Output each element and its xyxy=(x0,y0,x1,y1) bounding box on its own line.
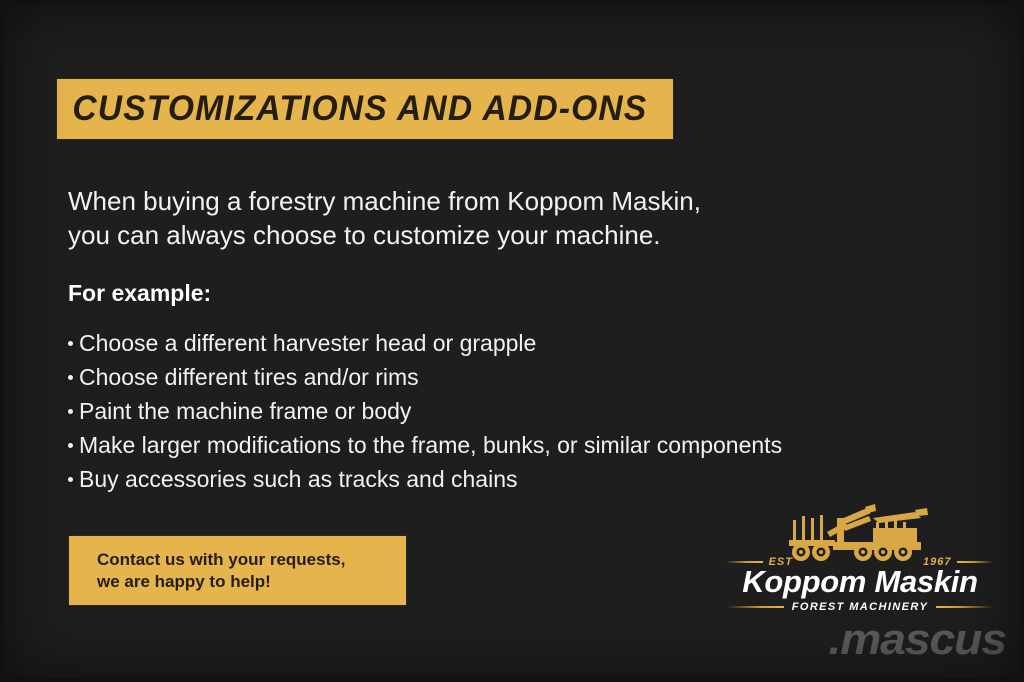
contact-line-1: Contact us with your requests, xyxy=(97,549,406,571)
logo-subtitle-divider-right xyxy=(936,606,994,608)
list-item-label: Buy accessories such as tracks and chain… xyxy=(79,462,517,496)
page-title: CUSTOMIZATIONS AND ADD-ONS xyxy=(57,89,647,129)
feature-bullet-list: Choose a different harvester head or gra… xyxy=(68,326,788,496)
logo-brand-name: Koppom Maskin xyxy=(726,564,994,600)
logo-subtitle-row: FOREST MACHINERY xyxy=(726,600,994,614)
intro-paragraph: When buying a forestry machine from Kopp… xyxy=(68,184,768,252)
bullet-dot-icon xyxy=(68,341,73,346)
bullet-dot-icon xyxy=(68,375,73,380)
list-item: Choose a different harvester head or gra… xyxy=(68,326,788,360)
logo-subtitle: FOREST MACHINERY xyxy=(784,601,936,613)
for-example-heading: For example: xyxy=(68,280,211,307)
list-item-label: Choose different tires and/or rims xyxy=(79,360,419,394)
contact-line-2: we are happy to help! xyxy=(97,571,406,593)
list-item: Choose different tires and/or rims xyxy=(68,360,788,394)
logo-divider-left xyxy=(726,561,763,563)
list-item: Make larger modifications to the frame, … xyxy=(68,428,788,462)
promo-slide: CUSTOMIZATIONS AND ADD-ONS When buying a… xyxy=(0,0,1024,682)
list-item: Paint the machine frame or body xyxy=(68,394,788,428)
mascus-watermark: .mascus xyxy=(744,616,1007,664)
bullet-dot-icon xyxy=(68,443,73,448)
intro-line-1: When buying a forestry machine from Kopp… xyxy=(68,184,768,218)
title-banner: CUSTOMIZATIONS AND ADD-ONS xyxy=(56,78,674,140)
bullet-dot-icon xyxy=(68,477,73,482)
bullet-dot-icon xyxy=(68,409,73,414)
contact-callout-box[interactable]: Contact us with your requests, we are ha… xyxy=(68,535,407,606)
intro-line-2: you can always choose to customize your … xyxy=(68,218,768,252)
koppom-maskin-logo: EST 1967 Koppom Maskin FOREST MACHINERY xyxy=(726,502,994,614)
logo-subtitle-divider-left xyxy=(726,606,784,608)
list-item: Buy accessories such as tracks and chain… xyxy=(68,462,788,496)
list-item-label: Paint the machine frame or body xyxy=(79,394,411,428)
list-item-label: Choose a different harvester head or gra… xyxy=(79,326,536,360)
list-item-label: Make larger modifications to the frame, … xyxy=(79,428,782,462)
logo-divider-right xyxy=(957,561,994,563)
